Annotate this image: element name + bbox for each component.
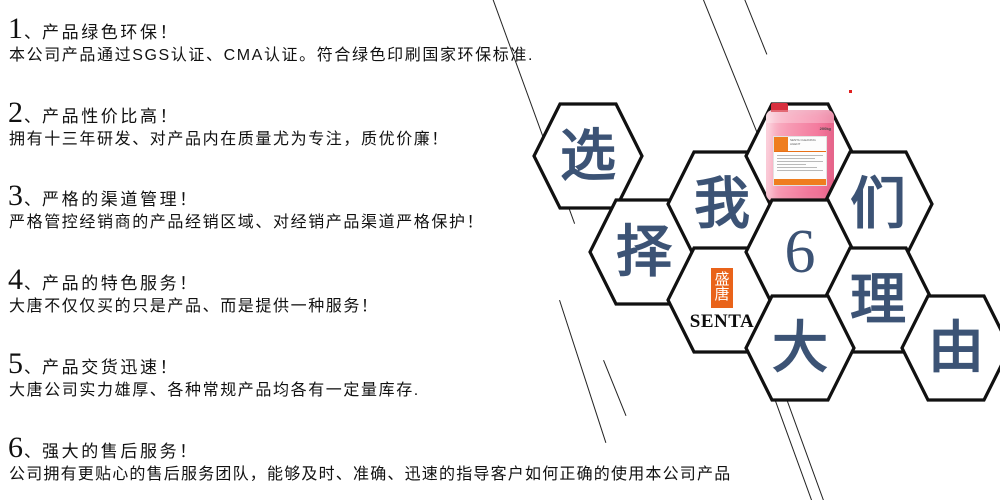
feature-separator-3: 、 [23,191,42,208]
feature-body-1: 本公司产品通过SGS认证、CMA认证。符合绿色印刷国家环保标准. [8,48,534,64]
promo-banner: 选 择 我 [0,0,1000,500]
feature-list: 1 、 产品绿色环保！ 本公司产品通过SGS认证、CMA认证。符合绿色印刷国家环… [8,0,1000,500]
feature-separator-4: 、 [23,275,42,292]
feature-heading-4: 产品的特色服务！ [42,275,199,292]
feature-separator-6: 、 [23,443,42,460]
feature-item-6: 6 、 强大的售后服务！ 公司拥有更贴心的售后服务团队，能够及时、准确、迅速的指… [8,433,731,483]
feature-item-4: 4 、 产品的特色服务！ 大唐不仅仅买的只是产品、而是提供一种服务！ [8,265,379,315]
feature-title-4: 4 、 产品的特色服务！ [8,265,379,295]
feature-heading-6: 强大的售后服务！ [42,443,199,460]
feature-body-3: 严格管控经销商的产品经销区域、对经销产品渠道严格保护！ [8,215,484,231]
feature-item-2: 2 、 产品性价比高！ 拥有十三年研发、对产品内在质量尤为专注，质优价廉！ [8,98,449,148]
feature-body-4: 大唐不仅仅买的只是产品、而是提供一种服务！ [8,299,379,315]
feature-separator-5: 、 [23,359,42,376]
feature-number-3: 3 [8,181,23,211]
feature-item-1: 1 、 产品绿色环保！ 本公司产品通过SGS认证、CMA认证。符合绿色印刷国家环… [8,14,534,64]
feature-body-5: 大唐公司实力雄厚、各种常规产品均各有一定量库存. [8,383,420,399]
feature-title-2: 2 、 产品性价比高！ [8,98,449,128]
feature-number-5: 5 [8,349,23,379]
feature-number-1: 1 [8,14,23,44]
feature-separator-1: 、 [23,24,42,41]
feature-title-6: 6 、 强大的售后服务！ [8,433,731,463]
feature-title-5: 5 、 产品交货迅速！ [8,349,420,379]
feature-number-6: 6 [8,433,23,463]
feature-heading-1: 产品绿色环保！ [42,24,179,41]
feature-item-5: 5 、 产品交货迅速！ 大唐公司实力雄厚、各种常规产品均各有一定量库存. [8,349,420,399]
feature-heading-5: 产品交货迅速！ [42,359,179,376]
feature-body-6: 公司拥有更贴心的售后服务团队，能够及时、准确、迅速的指导客户如何正确的使用本公司… [8,467,731,483]
feature-title-3: 3 、 严格的渠道管理！ [8,181,484,211]
feature-heading-2: 产品性价比高！ [42,108,179,125]
feature-title-1: 1 、 产品绿色环保！ [8,14,534,44]
feature-number-2: 2 [8,98,23,128]
feature-item-3: 3 、 严格的渠道管理！ 严格管控经销商的产品经销区域、对经销产品渠道严格保护！ [8,181,484,231]
feature-body-2: 拥有十三年研发、对产品内在质量尤为专注，质优价廉！ [8,132,449,148]
feature-number-4: 4 [8,265,23,295]
feature-separator-2: 、 [23,108,42,125]
feature-heading-3: 严格的渠道管理！ [42,191,199,208]
